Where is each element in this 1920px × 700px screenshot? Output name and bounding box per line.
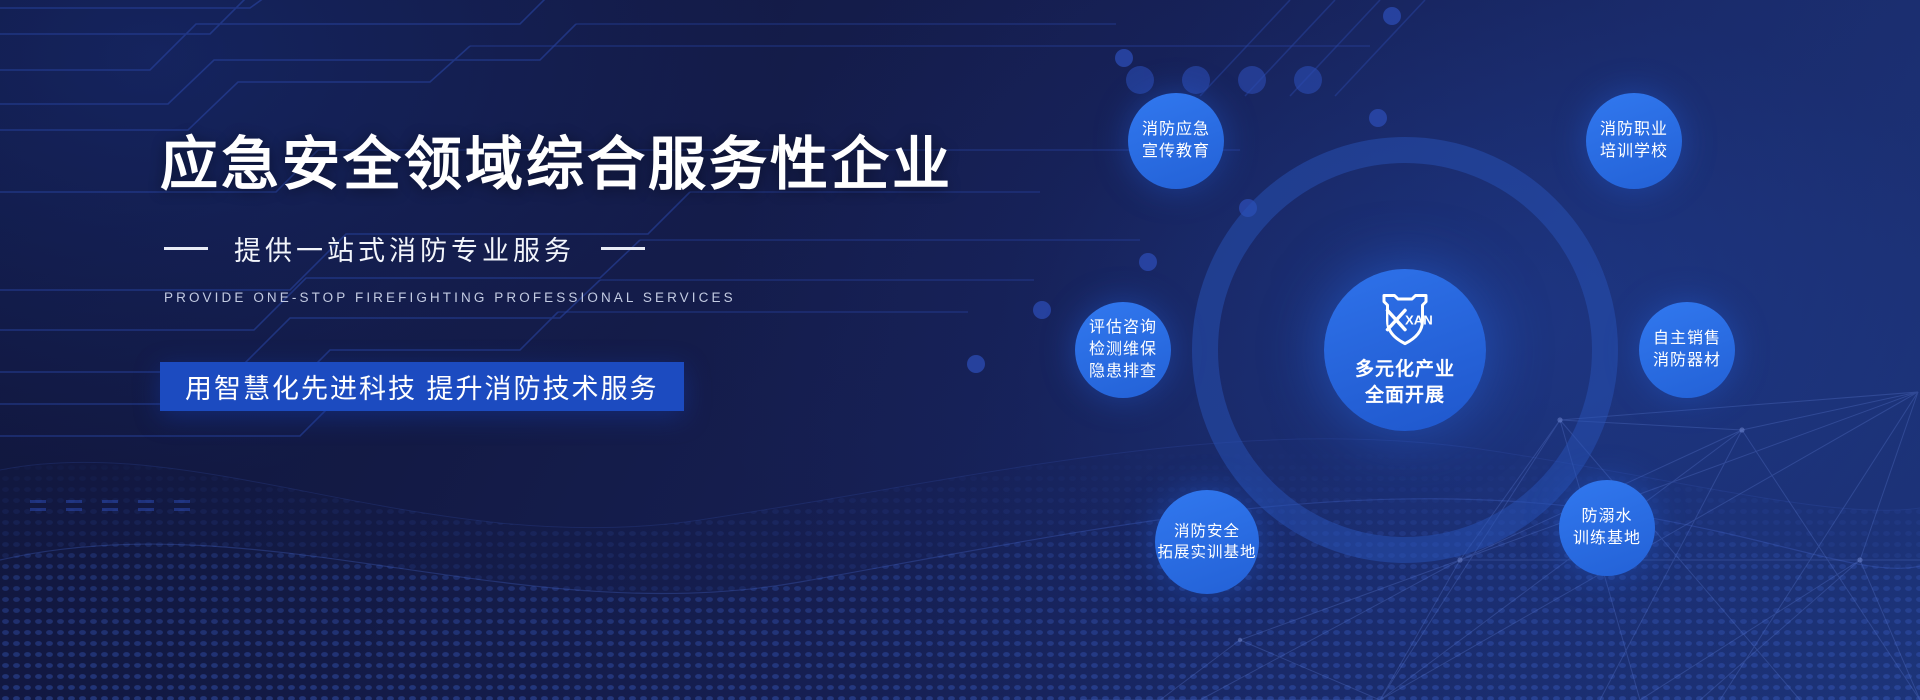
hero-copy: 应急安全领域综合服务性企业 提供一站式消防专业服务 PROVIDE ONE-ST… [160,132,920,411]
node-line2: 拓展实训基地 [1157,542,1256,563]
node-line2: 训练基地 [1573,528,1641,550]
node-line2: 检测维保 [1089,339,1157,361]
node-line2: 培训学校 [1600,141,1668,163]
node-line2: 宣传教育 [1142,141,1210,163]
english-subtitle: PROVIDE ONE-STOP FIREFIGHTING PROFESSION… [164,290,920,305]
node-line1: 消防安全 [1174,521,1240,542]
cta-button[interactable]: 用智慧化先进科技 提升消防技术服务 [160,362,684,411]
diagram-node-left[interactable]: 评估咨询 检测维保 隐患排查 [1075,302,1171,398]
diagram-node-bottom-left[interactable]: 消防安全 拓展实训基地 [1155,490,1259,594]
center-label-line2: 全面开展 [1355,383,1455,409]
diagram-node-top-right[interactable]: 消防职业 培训学校 [1586,93,1682,189]
diagram-node-right[interactable]: 自主销售 消防器材 [1639,302,1735,398]
node-line1: 消防应急 [1142,119,1210,141]
diagram-node-top-left[interactable]: 消防应急 宣传教育 [1128,93,1224,189]
subtitle: 提供一站式消防专业服务 [234,229,575,268]
shield-logo-icon: XAN [1377,291,1433,349]
dash-left-decoration [164,247,208,250]
banner-stage: 应急安全领域综合服务性企业 提供一站式消防专业服务 PROVIDE ONE-ST… [0,0,1920,700]
dash-right-decoration [601,247,645,250]
center-label: 多元化产业 全面开展 [1355,357,1455,408]
node-line3: 隐患排查 [1089,361,1157,383]
node-line1: 消防职业 [1600,119,1668,141]
diagram-center-node[interactable]: XAN 多元化产业 全面开展 [1324,269,1486,431]
node-line1: 自主销售 [1653,328,1721,350]
page-title: 应急安全领域综合服务性企业 [160,132,920,199]
diagram-node-bottom-right[interactable]: 防溺水 训练基地 [1559,480,1655,576]
node-line2: 消防器材 [1653,350,1721,372]
svg-text:XAN: XAN [1405,313,1433,328]
service-diagram: XAN 多元化产业 全面开展 消防应急 宣传教育 消防职业 培训学校 评估咨询 … [1115,80,1695,620]
node-line1: 评估咨询 [1089,317,1157,339]
subtitle-row: 提供一站式消防专业服务 [164,229,920,268]
center-label-line1: 多元化产业 [1355,357,1455,383]
node-line1: 防溺水 [1581,506,1632,528]
